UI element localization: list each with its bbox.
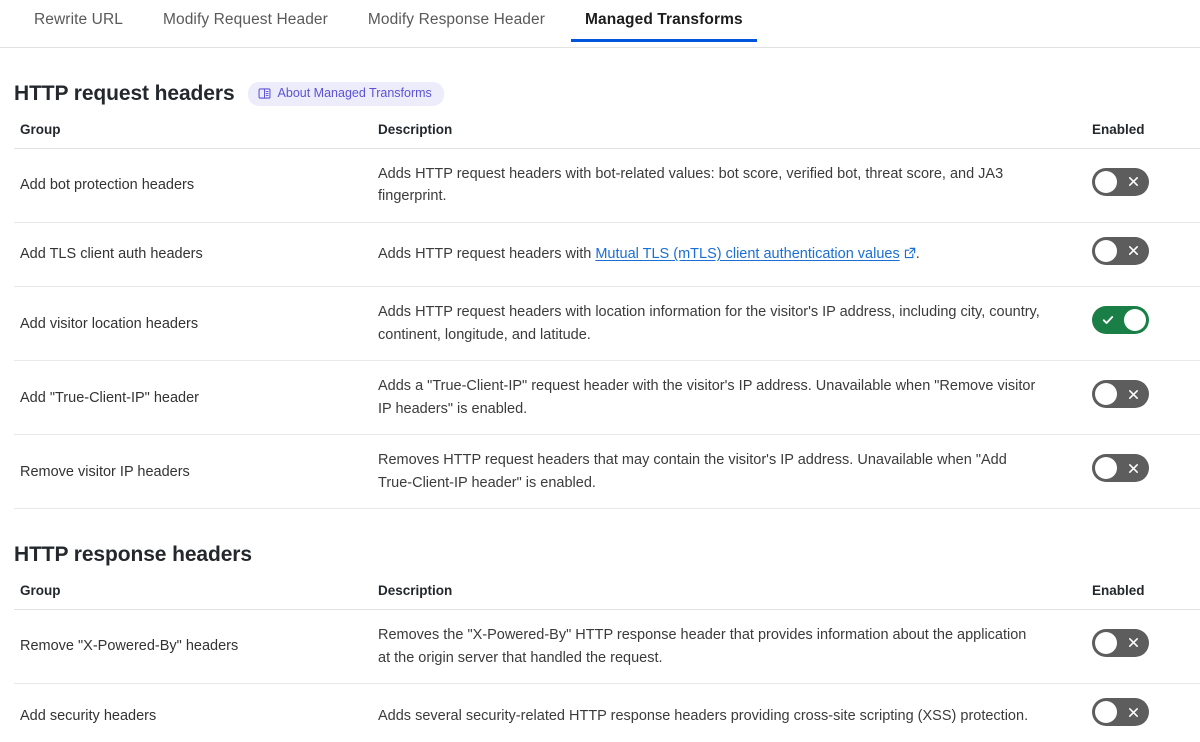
toggle-knob: [1095, 240, 1117, 262]
toggle-add-security-headers[interactable]: [1092, 698, 1149, 726]
request-table-head: Group Description Enabled: [14, 118, 1200, 149]
row-group-name: Add TLS client auth headers: [14, 222, 372, 286]
about-managed-transforms-badge[interactable]: About Managed Transforms: [248, 82, 444, 106]
http-response-headers-section: HTTP response headers Group Description …: [0, 543, 1200, 742]
close-icon: [1127, 168, 1140, 196]
row-description: Adds HTTP request headers with bot-relat…: [372, 149, 1086, 223]
row-group-name: Add bot protection headers: [14, 149, 372, 223]
row-group-name: Add visitor location headers: [14, 287, 372, 361]
row-group-name: Remove "X-Powered-By" headers: [14, 610, 372, 684]
tab-managed-transforms[interactable]: Managed Transforms: [565, 0, 763, 42]
row-description: Adds several security-related HTTP respo…: [372, 684, 1086, 742]
response-section-header: HTTP response headers: [14, 543, 1186, 567]
toggle-remove-visitor-ip-headers[interactable]: [1092, 454, 1149, 482]
tab-bar: Rewrite URL Modify Request Header Modify…: [0, 0, 1200, 48]
request-section-header: HTTP request headers About Managed Trans…: [14, 82, 1186, 106]
row-enabled-cell: [1086, 361, 1200, 435]
toggle-add-visitor-location-headers[interactable]: [1092, 306, 1149, 334]
close-icon: [1127, 237, 1140, 265]
row-enabled-cell: [1086, 435, 1200, 509]
table-header-row: Group Description Enabled: [14, 579, 1200, 610]
http-request-headers-section: HTTP request headers About Managed Trans…: [0, 82, 1200, 509]
table-row: Remove visitor IP headers Removes HTTP r…: [14, 435, 1200, 509]
response-section-title: HTTP response headers: [14, 543, 252, 567]
book-icon: [258, 87, 271, 100]
close-icon: [1127, 454, 1140, 482]
external-link-icon[interactable]: [904, 244, 916, 266]
toggle-add-tls-client-auth-headers[interactable]: [1092, 237, 1149, 265]
tab-modify-request-header[interactable]: Modify Request Header: [143, 0, 348, 42]
column-header-description: Description: [372, 118, 1086, 149]
response-table-head: Group Description Enabled: [14, 579, 1200, 610]
close-icon: [1127, 380, 1140, 408]
row-description: Adds a "True-Client-IP" request header w…: [372, 361, 1086, 435]
table-row: Add security headers Adds several securi…: [14, 684, 1200, 742]
toggle-knob: [1095, 632, 1117, 654]
row-description: Adds HTTP request headers with Mutual TL…: [372, 222, 1086, 286]
table-row: Add "True-Client-IP" header Adds a "True…: [14, 361, 1200, 435]
row-enabled-cell: [1086, 610, 1200, 684]
row-enabled-cell: [1086, 684, 1200, 742]
column-header-group: Group: [14, 118, 372, 149]
about-badge-label: About Managed Transforms: [278, 85, 432, 102]
table-row: Add visitor location headers Adds HTTP r…: [14, 287, 1200, 361]
table-row: Add TLS client auth headers Adds HTTP re…: [14, 222, 1200, 286]
column-header-enabled: Enabled: [1086, 118, 1200, 149]
toggle-knob: [1095, 701, 1117, 723]
tab-rewrite-url[interactable]: Rewrite URL: [14, 0, 143, 42]
toggle-add-true-client-ip-header[interactable]: [1092, 380, 1149, 408]
toggle-add-bot-protection-headers[interactable]: [1092, 168, 1149, 196]
table-row: Add bot protection headers Adds HTTP req…: [14, 149, 1200, 223]
description-prefix: Adds HTTP request headers with: [378, 246, 595, 262]
check-icon: [1101, 306, 1115, 334]
row-group-name: Add "True-Client-IP" header: [14, 361, 372, 435]
row-description: Adds HTTP request headers with location …: [372, 287, 1086, 361]
request-headers-table: Group Description Enabled Add bot protec…: [14, 118, 1200, 509]
toggle-knob: [1095, 383, 1117, 405]
close-icon: [1127, 698, 1140, 726]
request-section-title: HTTP request headers: [14, 82, 235, 106]
mtls-client-auth-link[interactable]: Mutual TLS (mTLS) client authentication …: [595, 246, 899, 262]
row-enabled-cell: [1086, 222, 1200, 286]
toggle-knob: [1095, 171, 1117, 193]
close-icon: [1127, 629, 1140, 657]
toggle-remove-x-powered-by-headers[interactable]: [1092, 629, 1149, 657]
tab-modify-response-header[interactable]: Modify Response Header: [348, 0, 565, 42]
row-group-name: Add security headers: [14, 684, 372, 742]
row-enabled-cell: [1086, 287, 1200, 361]
table-row: Remove "X-Powered-By" headers Removes th…: [14, 610, 1200, 684]
row-description: Removes HTTP request headers that may co…: [372, 435, 1086, 509]
response-headers-table: Group Description Enabled Remove "X-Powe…: [14, 579, 1200, 742]
row-group-name: Remove visitor IP headers: [14, 435, 372, 509]
toggle-knob: [1095, 457, 1117, 479]
toggle-knob: [1124, 309, 1146, 331]
row-description: Removes the "X-Powered-By" HTTP response…: [372, 610, 1086, 684]
description-suffix: .: [916, 246, 920, 262]
request-table-body: Add bot protection headers Adds HTTP req…: [14, 149, 1200, 509]
response-table-body: Remove "X-Powered-By" headers Removes th…: [14, 610, 1200, 742]
column-header-description: Description: [372, 579, 1086, 610]
column-header-group: Group: [14, 579, 372, 610]
column-header-enabled: Enabled: [1086, 579, 1200, 610]
row-enabled-cell: [1086, 149, 1200, 223]
table-header-row: Group Description Enabled: [14, 118, 1200, 149]
